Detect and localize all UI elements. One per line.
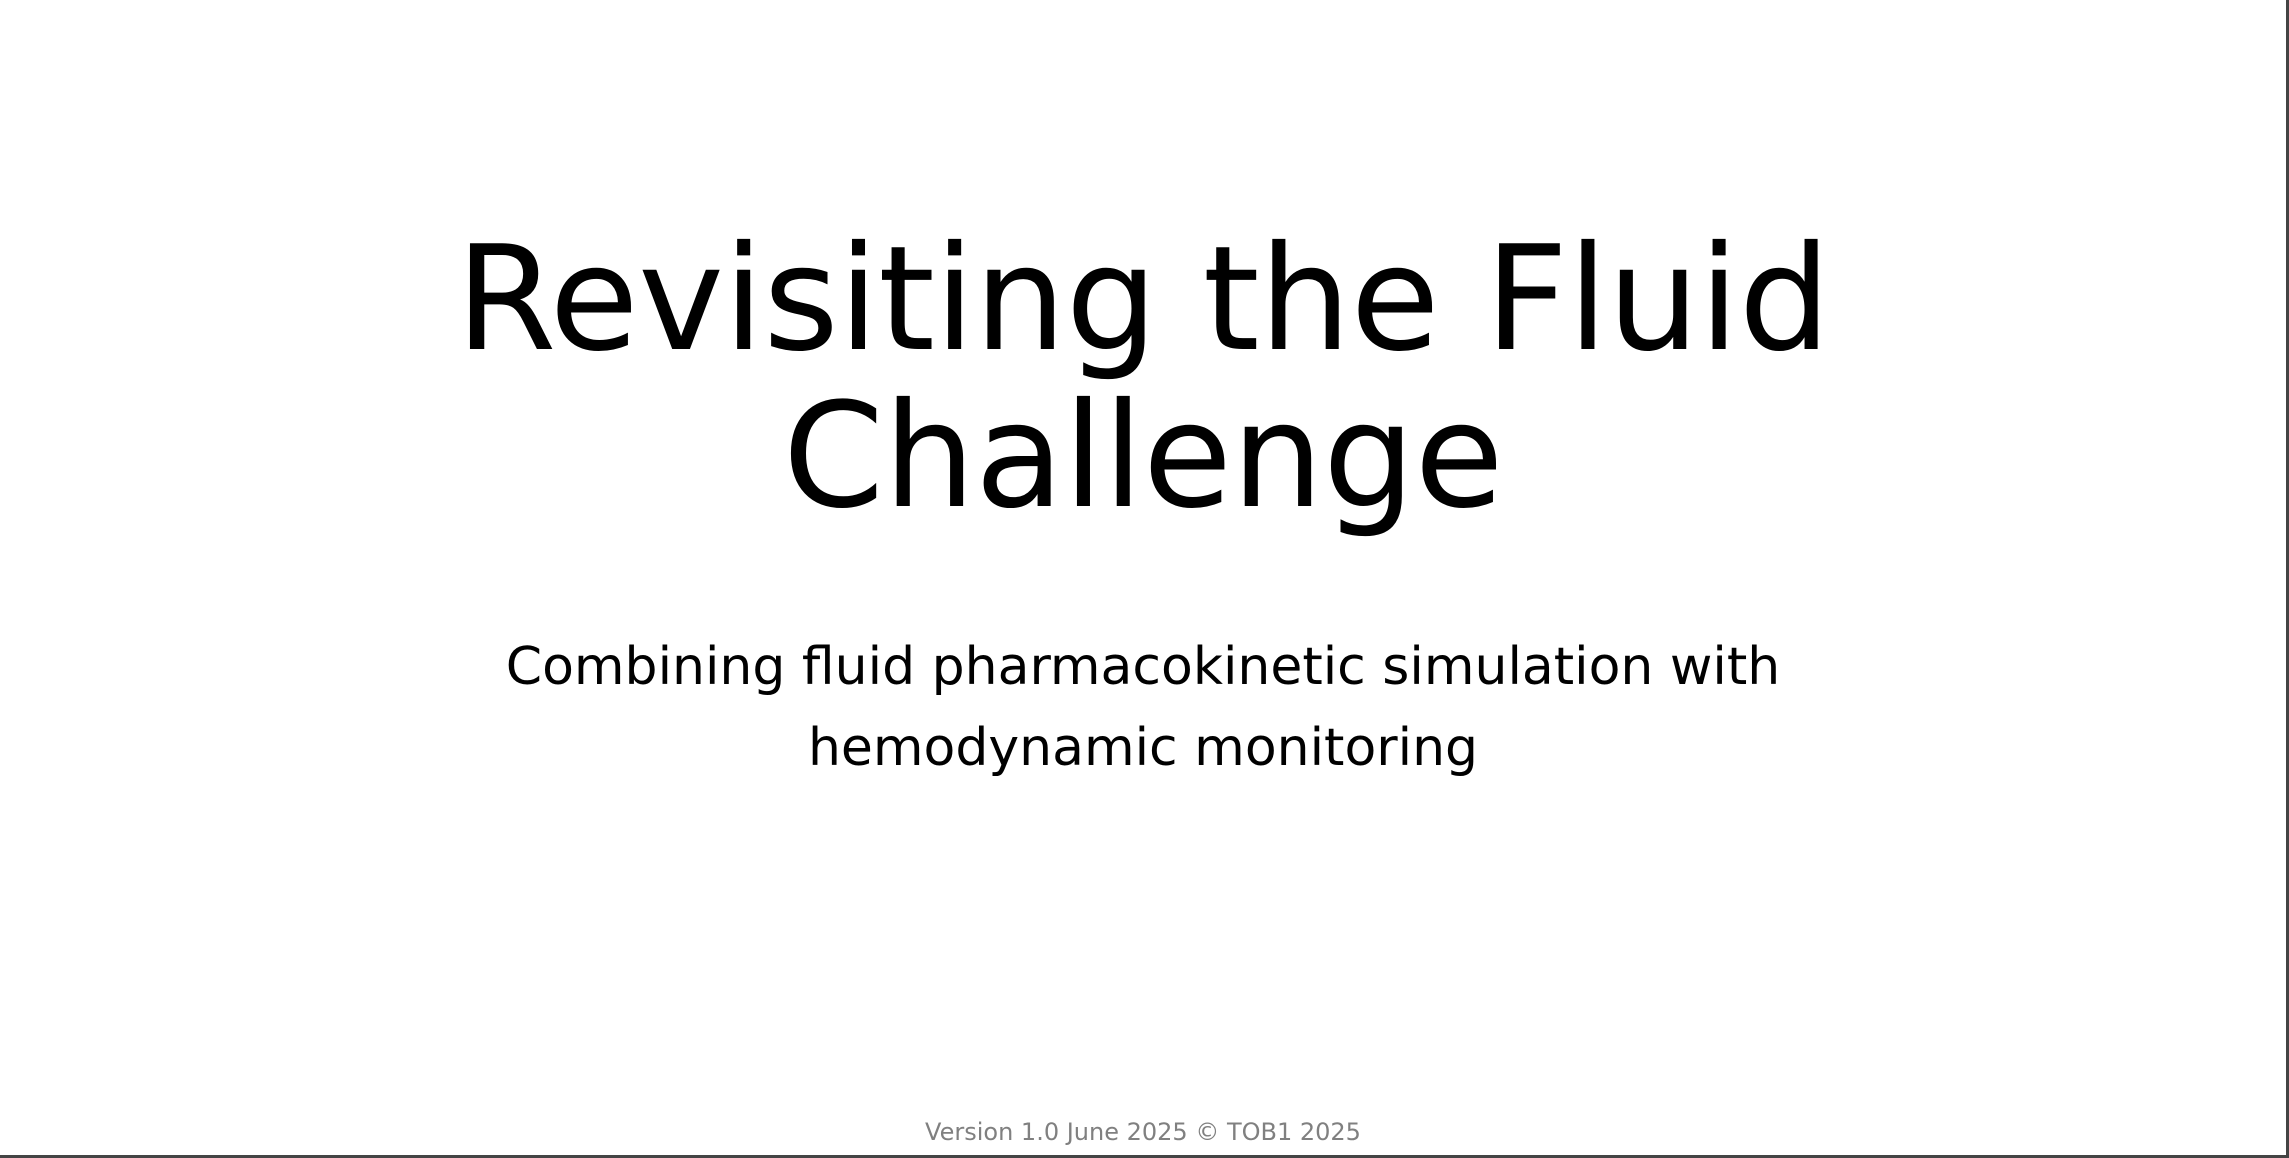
slide-title: Revisiting the Fluid Challenge: [363, 222, 1923, 535]
slide-footer-version-copyright: Version 1.0 June 2025 © TOB1 2025: [343, 1117, 1943, 1148]
slide-subtitle: Combining fluid pharmacokinetic simulati…: [433, 627, 1853, 788]
presentation-slide: Revisiting the Fluid Challenge Combining…: [0, 0, 2289, 1158]
